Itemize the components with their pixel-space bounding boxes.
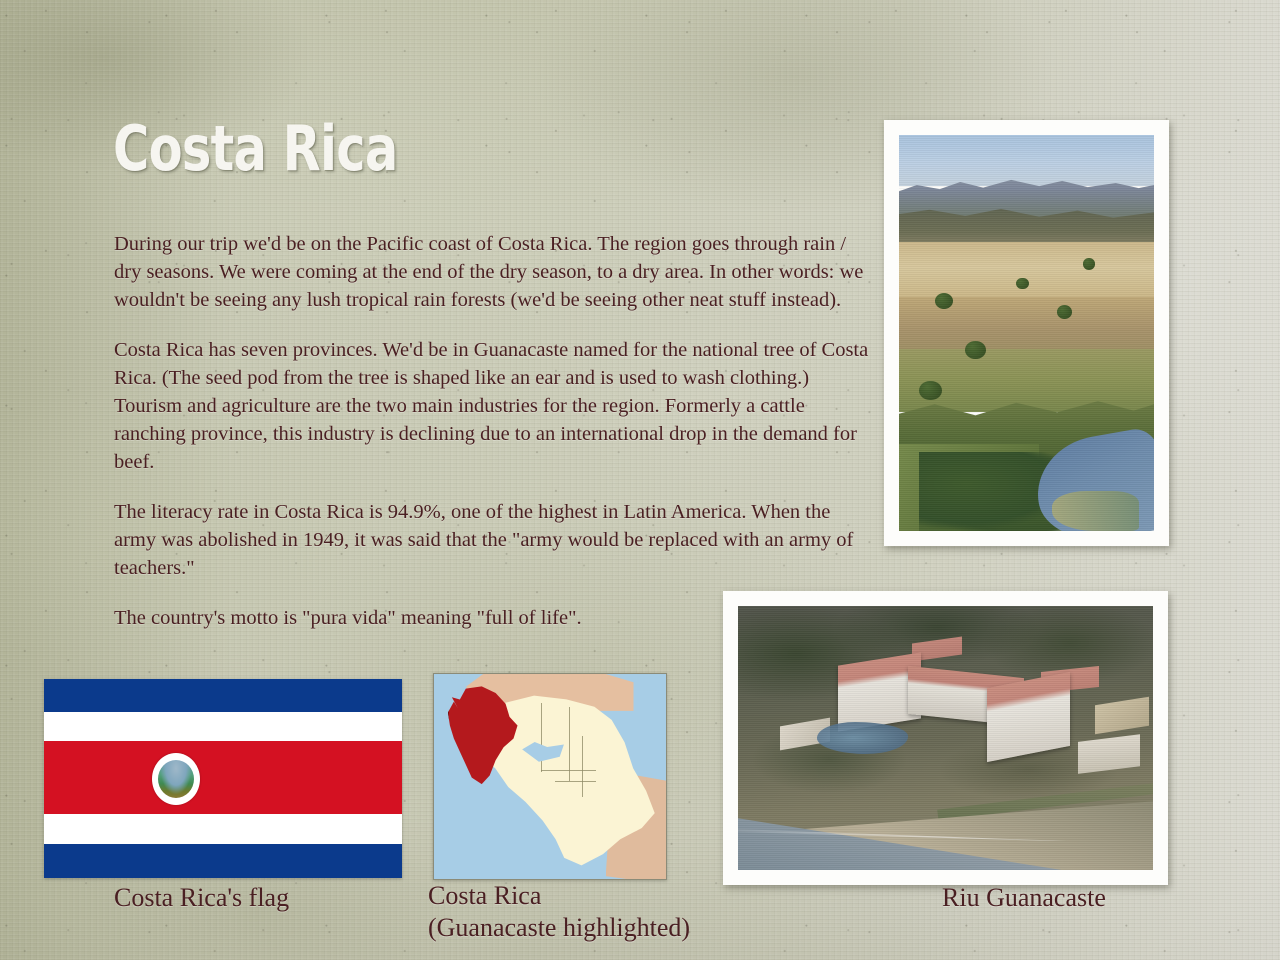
paragraph-literacy: The literacy rate in Costa Rica is 94.9%…	[114, 498, 874, 582]
costa-rica-province-map	[433, 673, 667, 880]
coat-of-arms-icon	[152, 753, 200, 805]
flag-stripe-red	[44, 741, 402, 814]
map-province-border	[582, 736, 583, 798]
flag-stripe-blue-top	[44, 679, 402, 712]
caption-map-line1: Costa Rica	[428, 880, 690, 912]
paragraph-provinces: Costa Rica has seven provinces. We'd be …	[114, 336, 874, 476]
flag-stripe-white-bottom	[44, 814, 402, 844]
costa-rica-flag-image	[44, 679, 402, 878]
map-province-border	[541, 703, 542, 773]
caption-resort: Riu Guanacaste	[942, 882, 1106, 914]
body-text-block: During our trip we'd be on the Pacific c…	[114, 230, 874, 632]
caption-map-line2: (Guanacaste highlighted)	[428, 912, 690, 944]
landscape-photo-frame	[884, 120, 1169, 546]
caption-map: Costa Rica (Guanacaste highlighted)	[428, 880, 690, 944]
slide-canvas: Costa Rica During our trip we'd be on th…	[0, 0, 1280, 960]
landscape-photo	[899, 135, 1154, 531]
map-province-border	[541, 770, 597, 771]
page-title: Costa Rica	[113, 116, 398, 182]
resort-photo	[738, 606, 1153, 870]
flag-stripe-white-top	[44, 712, 402, 741]
resort-photo-grain	[738, 606, 1153, 870]
resort-photo-frame	[723, 591, 1168, 885]
paragraph-intro: During our trip we'd be on the Pacific c…	[114, 230, 874, 314]
flag-stripe-blue-bottom	[44, 844, 402, 878]
map-province-border	[555, 781, 597, 782]
landscape-photo-grain	[899, 135, 1154, 531]
caption-flag: Costa Rica's flag	[114, 882, 289, 914]
